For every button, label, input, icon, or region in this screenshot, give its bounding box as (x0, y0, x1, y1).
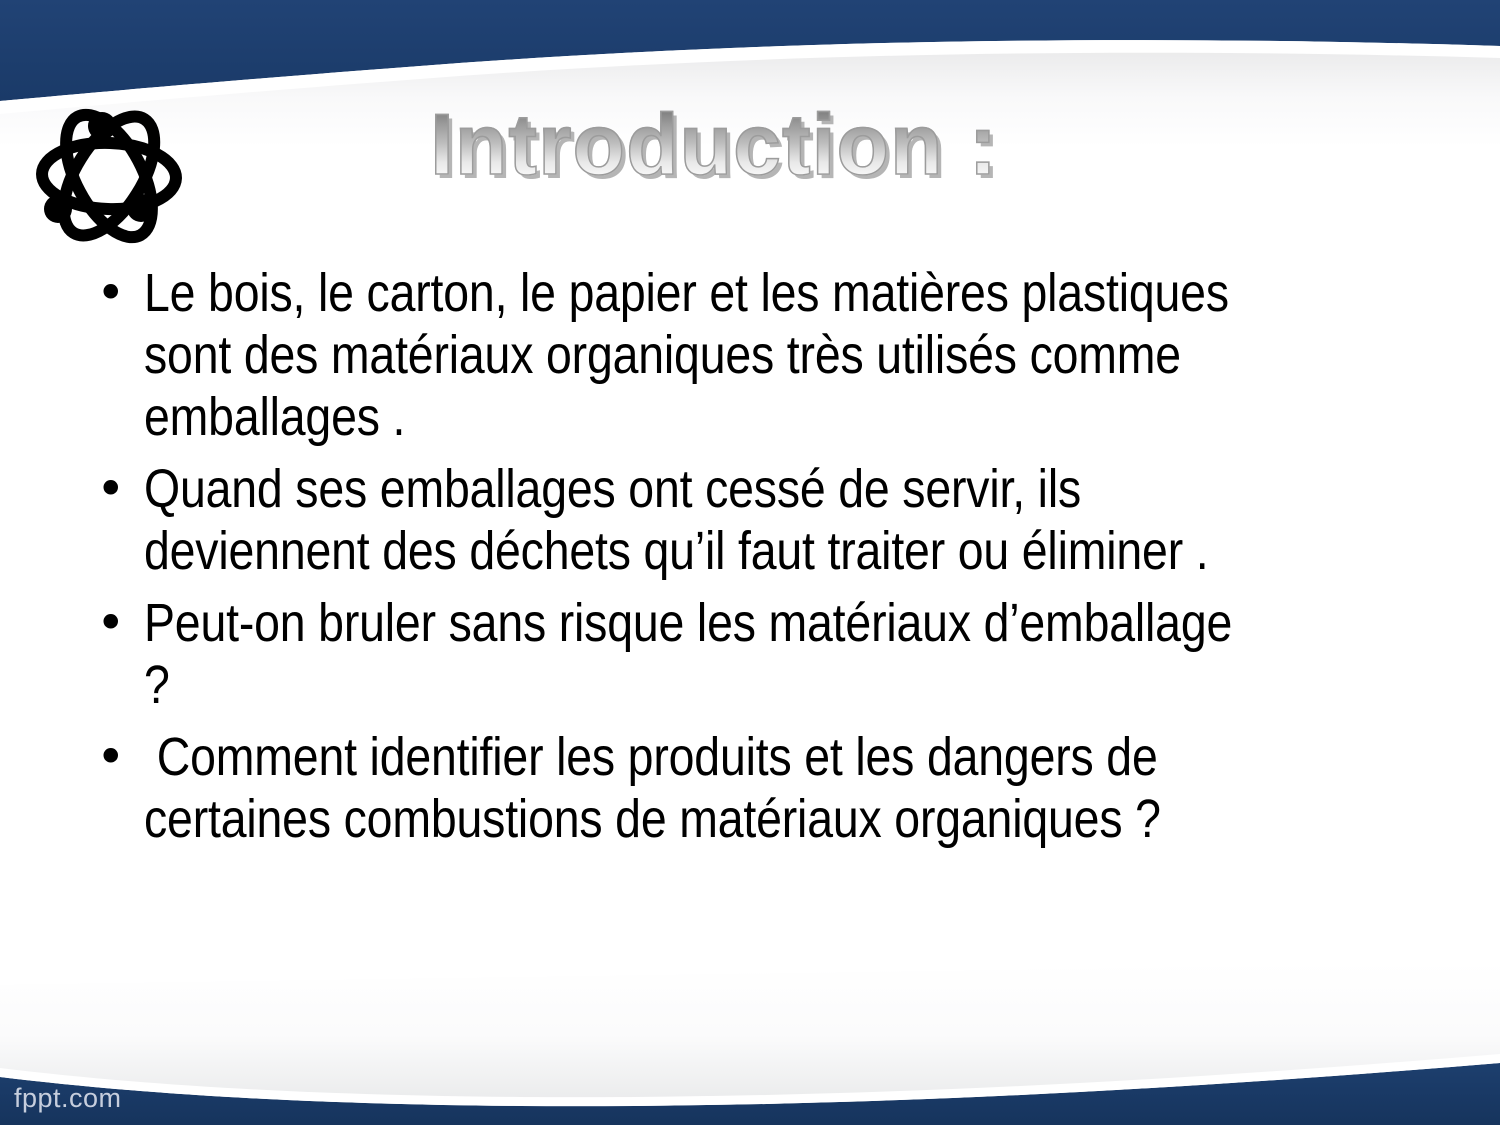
list-item: • Quand ses emballages ont cessé de serv… (80, 458, 1440, 582)
bottom-blue-band (0, 1063, 1500, 1125)
bullet-list: • Le bois, le carton, le papier et les m… (80, 262, 1440, 860)
bottom-band-highlight (0, 1054, 1500, 1106)
bullet-point-icon: • (80, 726, 144, 788)
bottom-paper-shade (0, 962, 1500, 1097)
bullet-point-icon: • (80, 458, 144, 520)
page-title-text: Introduction : (430, 92, 998, 198)
list-item-label: Quand ses emballages ont cessé de servir… (144, 458, 1259, 582)
atom-icon (33, 96, 185, 256)
top-blue-band (0, 0, 1500, 101)
list-item-label: Le bois, le carton, le papier et les mat… (144, 262, 1259, 448)
list-item: • Comment identifier les produits et les… (80, 726, 1440, 850)
footer-watermark: fppt.com (14, 1083, 122, 1113)
bullet-point-icon: • (80, 262, 144, 324)
page-title: Introduction : Introduction : (430, 92, 1130, 202)
list-item: • Le bois, le carton, le papier et les m… (80, 262, 1440, 448)
list-item-label: Peut-on bruler sans risque les matériaux… (144, 592, 1259, 716)
bullet-point-icon: • (80, 592, 144, 654)
presentation-slide: Introduction : Introduction : • Le bois,… (0, 0, 1500, 1125)
list-item: • Peut-on bruler sans risque les matéria… (80, 592, 1440, 716)
list-item-label: Comment identifier les produits et les d… (144, 726, 1259, 850)
